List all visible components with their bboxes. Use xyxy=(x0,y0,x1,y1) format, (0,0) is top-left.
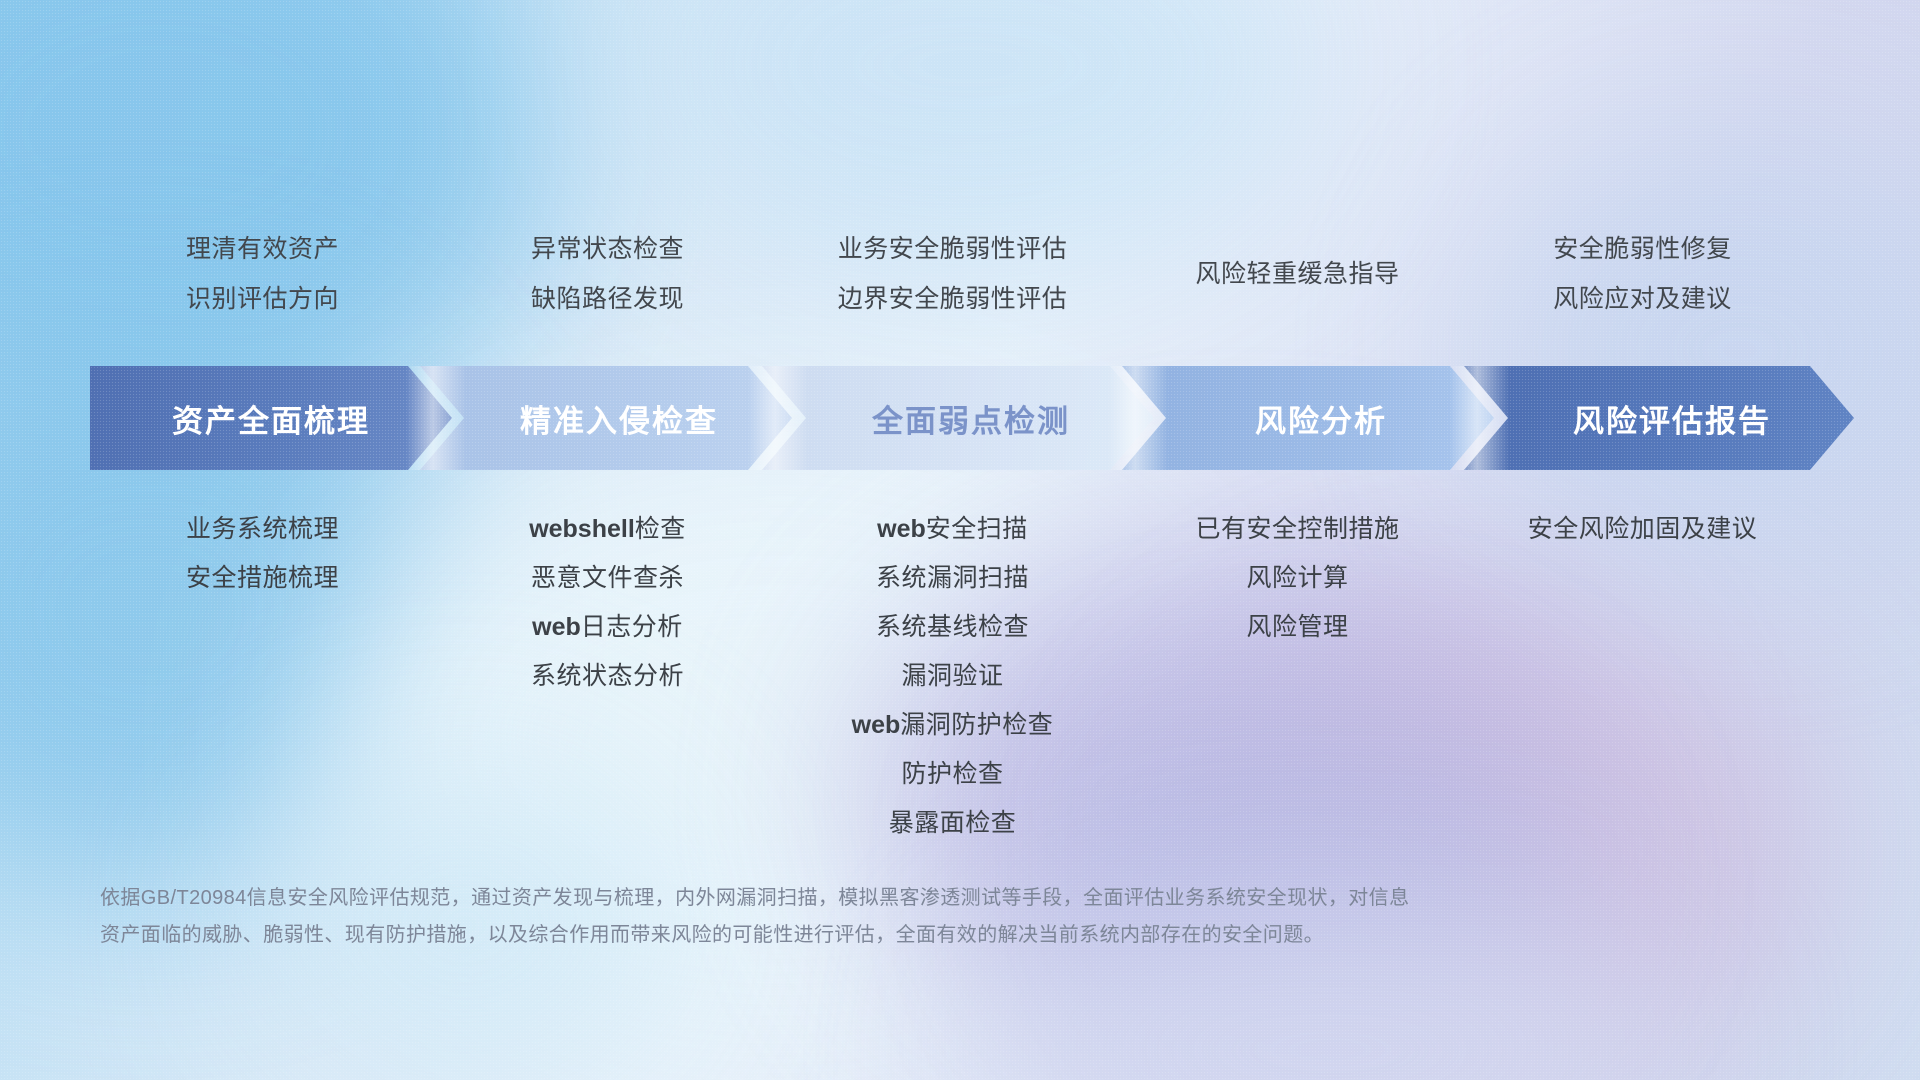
stage-arrow-asset-inventory[interactable]: 资产全面梳理 xyxy=(90,366,452,470)
top-col-assessment-report: 安全脆弱性修复 风险应对及建议 xyxy=(1470,224,1815,324)
bottom-item-cn: 风险管理 xyxy=(1246,613,1348,641)
top-item: 边界安全脆弱性评估 xyxy=(780,274,1125,324)
bottom-item: web漏洞防护检查 xyxy=(780,701,1125,750)
stage-arrow-intrusion-check[interactable]: 精准入侵检查 xyxy=(420,366,792,470)
bottom-item: web安全扫描 xyxy=(780,505,1125,554)
top-item: 风险应对及建议 xyxy=(1470,274,1815,324)
top-col-intrusion-check: 异常状态检查 缺陷路径发现 xyxy=(435,224,780,324)
bottom-item: 已有安全控制措施 xyxy=(1125,505,1470,554)
top-descriptor-row: 理清有效资产 识别评估方向 异常状态检查 缺陷路径发现 业务安全脆弱性评估 边界… xyxy=(90,224,1860,324)
bottom-col-weakness-detection: web安全扫描系统漏洞扫描系统基线检查漏洞验证web漏洞防护检查防护检查暴露面检… xyxy=(780,505,1125,848)
bottom-item: 系统漏洞扫描 xyxy=(780,554,1125,603)
bottom-item-cn: 已有安全控制措施 xyxy=(1195,515,1399,543)
bottom-item-cn: 安全扫描 xyxy=(926,515,1028,543)
top-item: 识别评估方向 xyxy=(90,274,435,324)
bottom-item-cn: 风险计算 xyxy=(1246,564,1348,592)
stage-title: 风险分析 xyxy=(1229,396,1387,441)
footer-description: 依据GB/T20984信息安全风险评估规范，通过资产发现与梳理，内外网漏洞扫描，… xyxy=(100,880,1600,954)
stage-title: 资产全面梳理 xyxy=(172,396,370,441)
bottom-item-cn: 业务系统梳理 xyxy=(186,515,339,543)
top-col-asset-inventory: 理清有效资产 识别评估方向 xyxy=(90,224,435,324)
bottom-item: 漏洞验证 xyxy=(780,652,1125,701)
bottom-item: 系统基线检查 xyxy=(780,603,1125,652)
bottom-descriptor-row: 业务系统梳理安全措施梳理 webshell检查恶意文件查杀web日志分析系统状态… xyxy=(90,505,1860,848)
bottom-item: 恶意文件查杀 xyxy=(435,554,780,603)
footer-line: 依据GB/T20984信息安全风险评估规范，通过资产发现与梳理，内外网漏洞扫描，… xyxy=(100,880,1600,917)
bottom-item: 安全风险加固及建议 xyxy=(1470,505,1815,554)
top-item: 风险轻重缓急指导 xyxy=(1125,224,1470,324)
top-item: 安全脆弱性修复 xyxy=(1470,224,1815,274)
stage-title: 全面弱点检测 xyxy=(846,396,1070,441)
bottom-item: 暴露面检查 xyxy=(780,799,1125,848)
top-item: 理清有效资产 xyxy=(90,224,435,274)
bottom-item: 风险计算 xyxy=(1125,554,1470,603)
bottom-item-latin: web xyxy=(532,613,581,641)
bottom-item: 安全措施梳理 xyxy=(90,554,435,603)
bottom-item-cn: 安全措施梳理 xyxy=(186,564,339,592)
bottom-item-latin: webshell xyxy=(529,515,635,543)
bottom-item-cn: 恶意文件查杀 xyxy=(531,564,684,592)
bottom-item-cn: 暴露面检查 xyxy=(889,809,1017,837)
bottom-col-intrusion-check: webshell检查恶意文件查杀web日志分析系统状态分析 xyxy=(435,505,780,701)
bottom-item: 业务系统梳理 xyxy=(90,505,435,554)
bottom-item: 风险管理 xyxy=(1125,603,1470,652)
top-item: 业务安全脆弱性评估 xyxy=(780,224,1125,274)
bottom-item-cn: 系统漏洞扫描 xyxy=(876,564,1029,592)
top-item: 异常状态检查 xyxy=(435,224,780,274)
bottom-item: webshell检查 xyxy=(435,505,780,554)
process-arrow-band: 资产全面梳理 精准入侵检查 全面弱点检测 风险分析 风险评估报告 xyxy=(90,366,1854,470)
stage-arrow-assessment-report[interactable]: 风险评估报告 xyxy=(1464,366,1854,470)
bottom-item-cn: 系统状态分析 xyxy=(531,662,684,690)
bottom-item-cn: 日志分析 xyxy=(581,613,683,641)
bottom-item-cn: 安全风险加固及建议 xyxy=(1528,515,1758,543)
bottom-item: 系统状态分析 xyxy=(435,652,780,701)
bottom-item-cn: 检查 xyxy=(635,515,686,543)
stage-title: 风险评估报告 xyxy=(1547,396,1771,441)
top-col-risk-analysis: 风险轻重缓急指导 xyxy=(1125,224,1470,324)
bottom-item-cn: 防护检查 xyxy=(901,760,1003,788)
bottom-item-latin: web xyxy=(877,515,926,543)
bottom-item-latin: web xyxy=(852,711,901,739)
stage-arrow-risk-analysis[interactable]: 风险分析 xyxy=(1122,366,1494,470)
bottom-item-cn: 系统基线检查 xyxy=(876,613,1029,641)
top-item: 缺陷路径发现 xyxy=(435,274,780,324)
footer-line: 资产面临的威胁、脆弱性、现有防护措施，以及综合作用而带来风险的可能性进行评估，全… xyxy=(100,917,1600,954)
stage-title: 精准入侵检查 xyxy=(494,396,718,441)
bottom-item-cn: 漏洞防护检查 xyxy=(900,711,1053,739)
stage-arrow-weakness-detection[interactable]: 全面弱点检测 xyxy=(762,366,1154,470)
bottom-item: web日志分析 xyxy=(435,603,780,652)
top-col-weakness-detection: 业务安全脆弱性评估 边界安全脆弱性评估 xyxy=(780,224,1125,324)
bottom-col-assessment-report: 安全风险加固及建议 xyxy=(1470,505,1815,554)
bottom-col-risk-analysis: 已有安全控制措施风险计算风险管理 xyxy=(1125,505,1470,652)
bottom-item-cn: 漏洞验证 xyxy=(901,662,1003,690)
bottom-item: 防护检查 xyxy=(780,750,1125,799)
bottom-col-asset-inventory: 业务系统梳理安全措施梳理 xyxy=(90,505,435,603)
